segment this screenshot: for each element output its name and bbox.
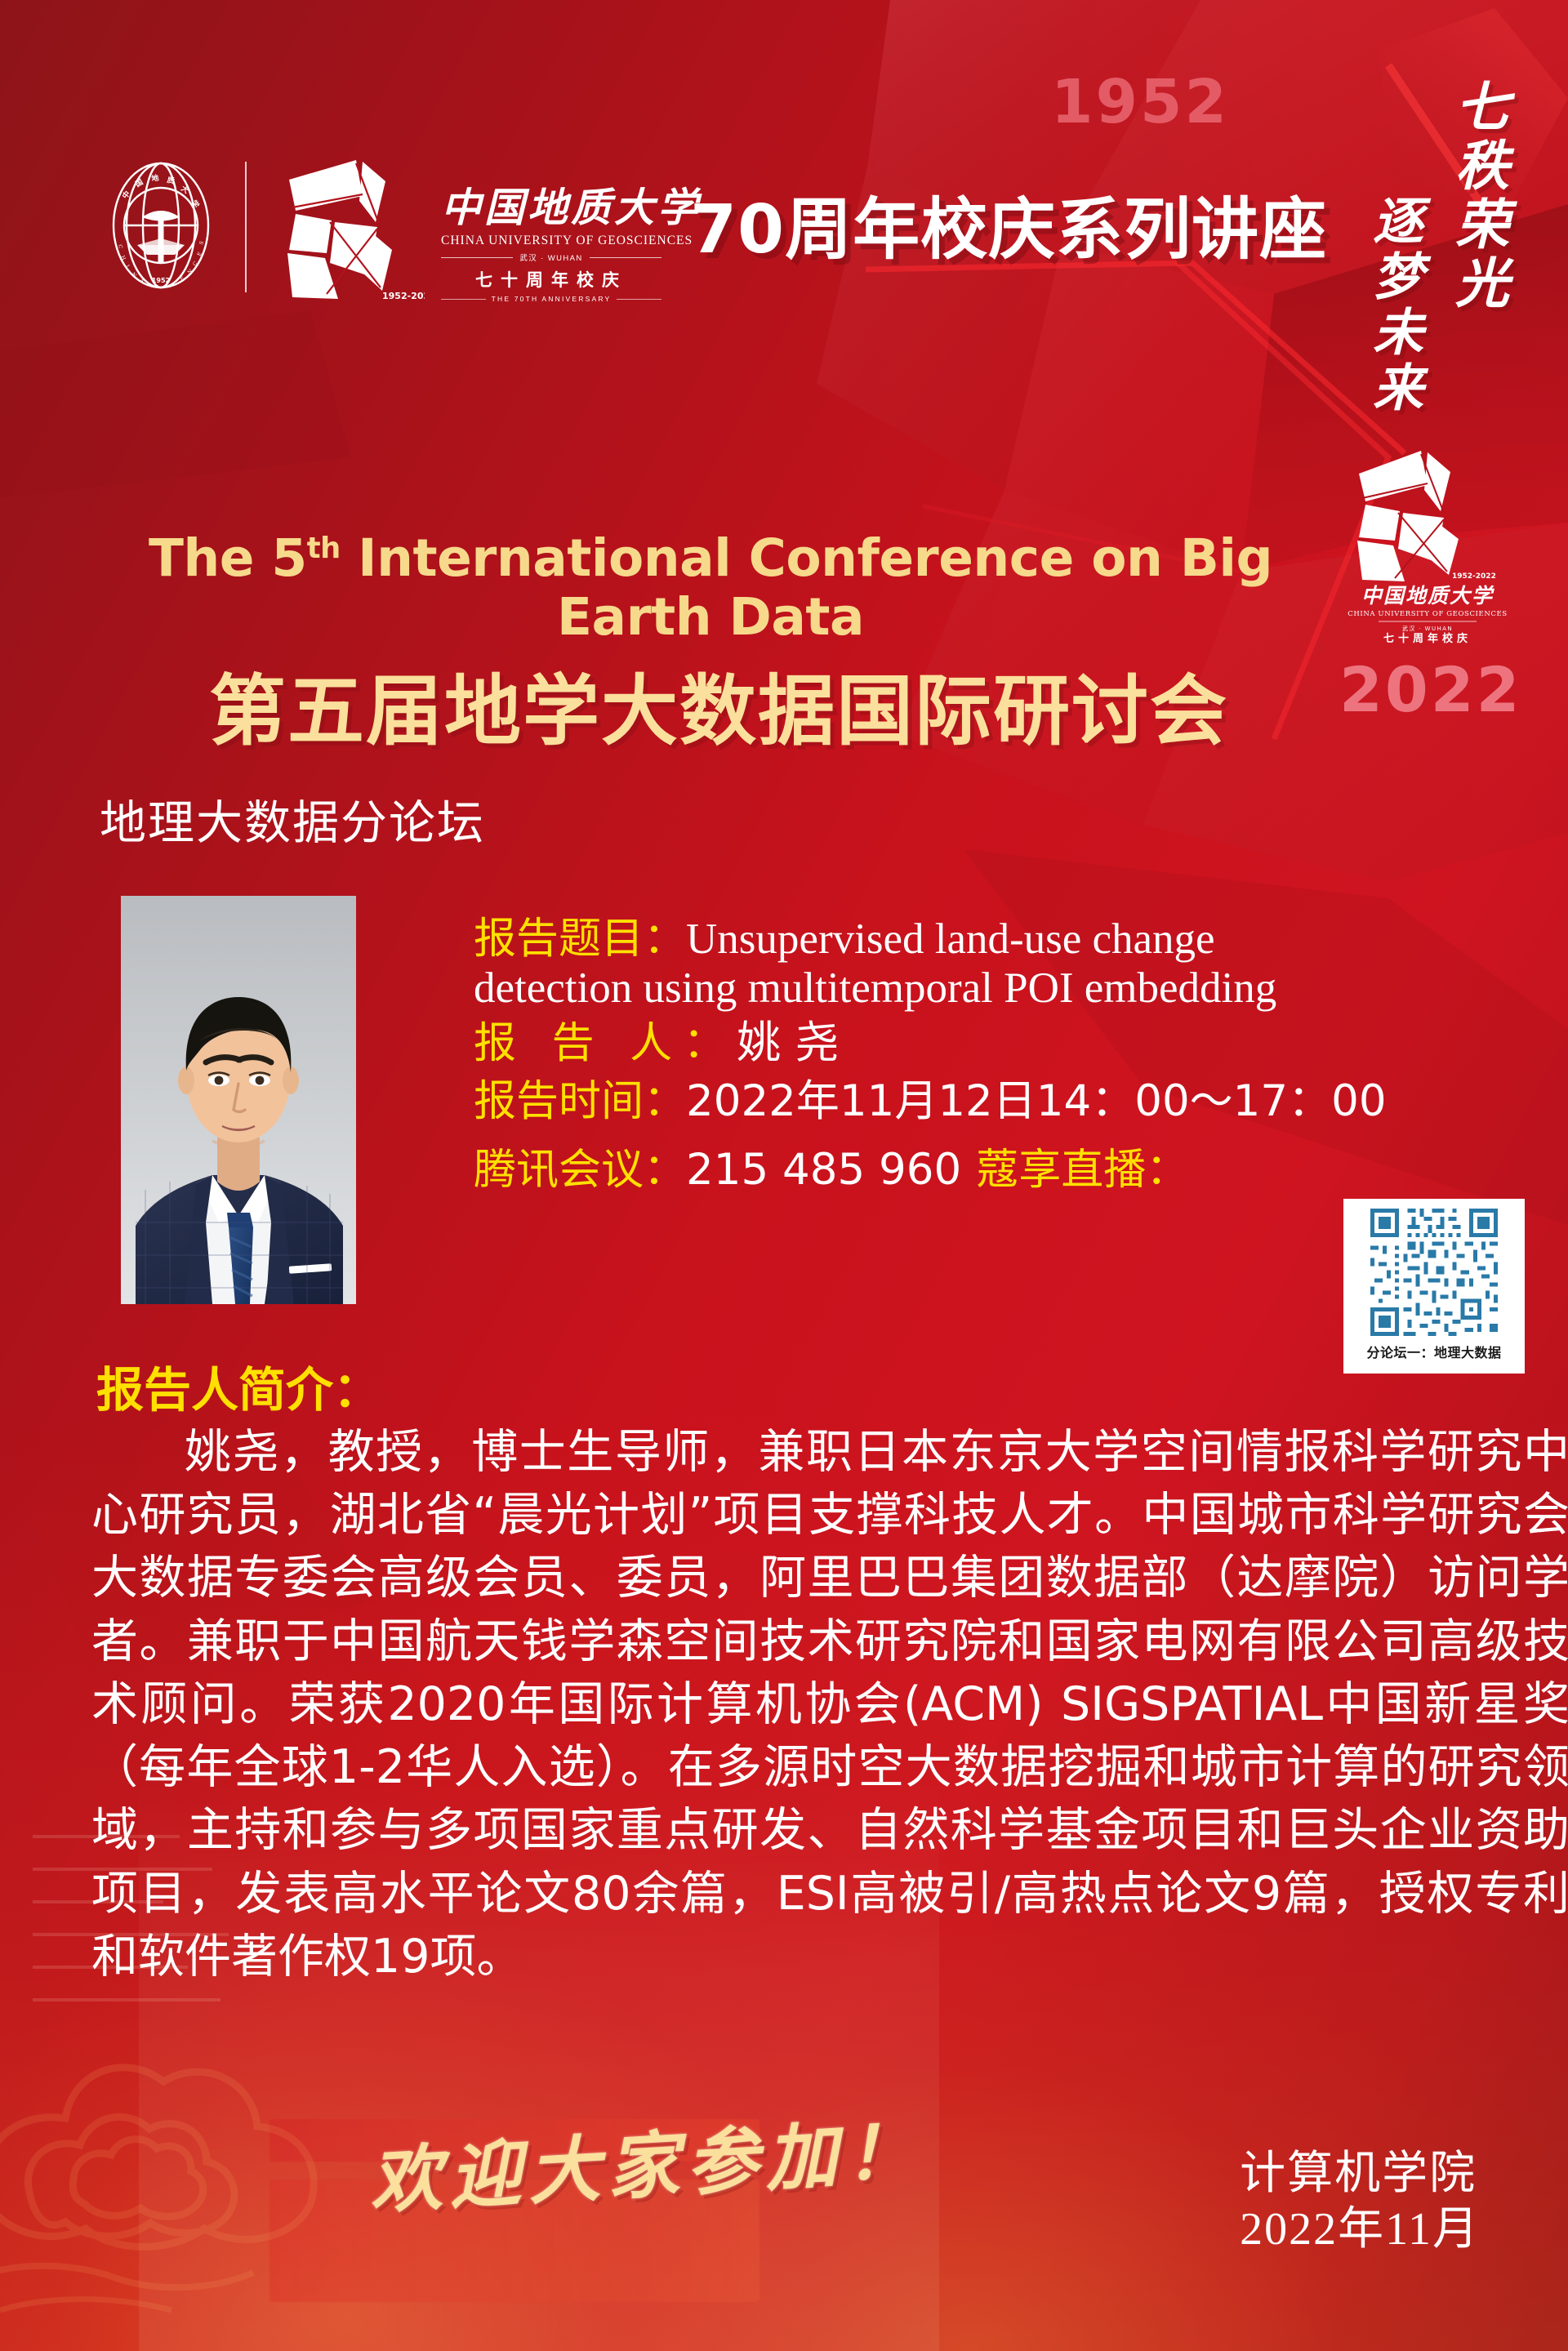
title-en-part2: International Conference on Big	[341, 528, 1272, 588]
time-value: 2022年11月12日14：00～17：00	[686, 1076, 1387, 1126]
svg-text:七十周年校庆: 七十周年校庆	[1383, 632, 1472, 645]
year-end-label: 2022	[1339, 653, 1522, 726]
svg-text:N: N	[187, 268, 194, 275]
university-name-en: CHINA UNIVERSITY OF GEOSCIENCES	[441, 234, 661, 248]
svg-text:C: C	[192, 260, 199, 267]
subforum-title: 地理大数据分论坛	[100, 786, 485, 853]
talk-title-value-1: Unsupervised land-use change	[686, 915, 1215, 963]
meeting-id[interactable]: 215 485 960	[686, 1145, 961, 1195]
university-wordmark: 中国地质大学 CHINA UNIVERSITY OF GEOSCIENCES 武…	[441, 188, 661, 294]
time-row: 报告时间：2022年11月12日14：00～17：00	[474, 1076, 1552, 1128]
calligraphy-seven-decades-glory: 七秩荣光	[1437, 78, 1516, 314]
speaker-label: 报 告 人：	[474, 1019, 737, 1068]
anniversary-cn: 七十周年校庆	[441, 267, 661, 292]
svg-text:1952: 1952	[152, 277, 170, 284]
calligraphy-chase-dreams-future: 逐梦未来	[1356, 194, 1429, 416]
anniversary-en: THE 70TH ANNIVERSARY	[492, 295, 612, 303]
svg-text:学: 学	[189, 198, 202, 210]
speaker-portrait	[121, 896, 356, 1304]
talk-info-block: 报告题目：Unsupervised land-use change detect…	[474, 915, 1552, 1196]
title-en-line2: Earth Data	[557, 587, 864, 647]
talk-title-label: 报告题目：	[474, 915, 686, 964]
live-label: 蔻享直播：	[976, 1146, 1188, 1195]
conference-title-cn: 第五届地学大数据国际研讨会	[90, 670, 1347, 754]
svg-text:S: S	[198, 240, 205, 246]
meeting-row: 腾讯会议：215 485 960蔻享直播：	[474, 1145, 1552, 1196]
talk-title-line2: detection using multitemporal POI embedd…	[474, 964, 1552, 1013]
campus-line: 武汉 · WUHAN	[441, 252, 661, 263]
svg-text:C: C	[117, 244, 123, 250]
svg-text:1952-2022: 1952-2022	[382, 291, 425, 301]
campus-label: 武汉 · WUHAN	[519, 252, 582, 263]
side-anniversary-logo: 1952-2022 中国地质大学 CHINA UNIVERSITY OF GEO…	[1346, 441, 1509, 645]
qr-code-card[interactable]: 分论坛一：地理大数据	[1343, 1199, 1525, 1374]
poster-root: 中 国 地 质 大 学 C H I N A S E C N E 1952	[0, 0, 1568, 2351]
svg-text:H: H	[119, 255, 127, 262]
qr-code-caption: 分论坛一：地理大数据	[1349, 1342, 1519, 1361]
footer: 计算机学院 2022年11月	[1240, 2146, 1480, 2258]
talk-title-row: 报告题目：Unsupervised land-use change detect…	[474, 915, 1552, 1013]
bio-heading: 报告人简介：	[96, 1351, 381, 1420]
speaker-portrait-image	[121, 896, 356, 1304]
title-en-part1: The 5	[149, 528, 307, 588]
lecture-series-title: 70周年校庆系列讲座	[690, 175, 1327, 272]
anniversary-origami-icon: 1952-2022	[278, 154, 425, 305]
qr-code-icon[interactable]	[1349, 1204, 1519, 1340]
svg-text:1952-2022: 1952-2022	[1452, 572, 1496, 581]
time-label: 报告时间：	[474, 1077, 686, 1126]
university-crest-icon: 中 国 地 质 大 学 C H I N A S E C N E 1952	[105, 160, 217, 291]
svg-text:武汉 · WUHAN: 武汉 · WUHAN	[1402, 625, 1453, 632]
speaker-row: 报 告 人：姚 尧	[474, 1017, 1552, 1070]
footer-date: 2022年11月	[1240, 2202, 1480, 2257]
header: 中 国 地 质 大 学 C H I N A S E C N E 1952	[0, 0, 1568, 327]
svg-text:CHINA UNIVERSITY OF GEOSCIENCE: CHINA UNIVERSITY OF GEOSCIENCES	[1347, 610, 1507, 618]
conference-title-en: The 5th International Conference on Big …	[90, 529, 1331, 647]
anniversary-en-line: THE 70TH ANNIVERSARY	[441, 295, 661, 303]
talk-title-line1: 报告题目：Unsupervised land-use change	[474, 915, 1552, 964]
svg-text:中国地质大学: 中国地质大学	[1361, 584, 1494, 608]
svg-text:国: 国	[134, 178, 145, 189]
welcome-message: 欢迎大家参加！	[367, 2093, 926, 2228]
bio-text: 姚尧，教授，博士生导师，兼职日本东京大学空间情报科学研究中心研究员，湖北省“晨光…	[91, 1421, 1568, 1988]
svg-text:E: E	[179, 275, 185, 283]
header-divider	[245, 162, 247, 292]
footer-organizer: 计算机学院	[1240, 2146, 1480, 2202]
title-en-ordinal: th	[307, 532, 341, 565]
speaker-name: 姚 尧	[737, 1017, 839, 1068]
university-name-cn: 中国地质大学	[441, 188, 661, 228]
meeting-label: 腾讯会议：	[474, 1146, 686, 1195]
year-start-label: 1952	[1051, 67, 1229, 137]
svg-text:地: 地	[150, 173, 159, 184]
